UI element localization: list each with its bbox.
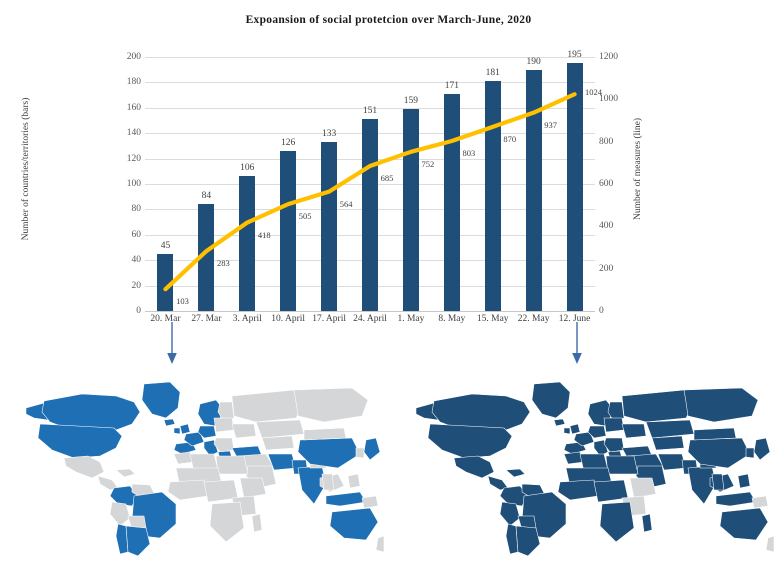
bar[interactable] — [198, 204, 214, 311]
map-region-nz — [766, 536, 774, 552]
chart-page: Expoansion of social protetcion over Mar… — [0, 0, 777, 570]
map-region-kazakh — [646, 420, 694, 438]
world-map-march — [4, 356, 384, 561]
bar-slot: 151 — [350, 57, 391, 311]
map-region-greenland — [532, 382, 570, 418]
y-tick-label-left: 200 — [105, 52, 141, 62]
map-region-usa — [38, 424, 122, 458]
map-region-centralasia — [262, 436, 294, 450]
bar[interactable] — [239, 176, 255, 311]
line-value-label: 870 — [503, 134, 516, 144]
y-tick-label-left: 40 — [105, 255, 141, 265]
map-region-kazakh — [256, 420, 304, 438]
map-region-indonesia — [326, 492, 366, 506]
map-region-argentina — [126, 526, 150, 556]
map-region-mexico — [454, 456, 494, 478]
y-tick-label-left: 160 — [105, 103, 141, 113]
map-region-russia_e — [294, 388, 368, 422]
bar[interactable] — [485, 81, 501, 311]
map-region-argentina — [516, 526, 540, 556]
map-region-mexico — [64, 456, 104, 478]
map-region-peru — [500, 502, 520, 526]
map-region-japan — [754, 438, 770, 460]
bar[interactable] — [362, 119, 378, 311]
bar-value-label: 84 — [202, 191, 212, 201]
map-region-mongolia — [304, 428, 346, 440]
gridline — [145, 311, 595, 312]
map-region-westafrica — [558, 480, 598, 500]
bar-value-label: 190 — [527, 57, 541, 67]
map-region-australia — [720, 508, 768, 540]
y-tick-label-left: 60 — [105, 230, 141, 240]
y-tick-label-left: 20 — [105, 281, 141, 291]
map-region-ireland — [174, 428, 180, 434]
y-tick-label-right: 1200 — [599, 52, 639, 62]
bar-slot: 84 — [186, 57, 227, 311]
bar-slot: 106 — [227, 57, 268, 311]
plot-area: 4584106126133151159171181190195 10328341… — [145, 57, 595, 311]
map-region-madagascar — [252, 514, 262, 532]
bar-value-label: 45 — [161, 241, 171, 251]
bar-value-label: 181 — [486, 68, 500, 78]
map-region-peru — [110, 502, 130, 526]
bar[interactable] — [567, 63, 583, 311]
map-region-usa — [428, 424, 512, 458]
bar[interactable] — [321, 142, 337, 311]
map-region-japan — [364, 438, 380, 460]
map-region-thailand — [712, 474, 724, 490]
bar-value-label: 171 — [445, 81, 459, 91]
line-value-label: 103 — [176, 296, 189, 306]
map-region-russia_w — [232, 390, 304, 422]
y-tick-label-right: 0 — [599, 306, 639, 316]
map-region-australia — [330, 508, 378, 540]
map-region-russia_w — [622, 390, 694, 422]
y-axis-left-title: Number of countries/territories (bars) — [21, 79, 31, 259]
line-value-label: 752 — [422, 159, 435, 169]
map-region-ukraine — [232, 424, 256, 438]
bar-slot: 190 — [513, 57, 554, 311]
map-region-thailand — [322, 474, 334, 490]
line-value-label: 803 — [462, 148, 475, 158]
map-region-hornafrica — [240, 478, 266, 498]
map-region-mongolia — [694, 428, 736, 440]
bar[interactable] — [157, 254, 173, 311]
map-region-png — [752, 496, 768, 508]
map-region-polandbalt — [604, 418, 624, 432]
map-region-westafrica — [168, 480, 208, 500]
world-map-june — [394, 356, 774, 561]
line-value-label: 418 — [258, 230, 271, 240]
map-region-uk — [570, 424, 580, 434]
bar[interactable] — [526, 70, 542, 311]
bar-slot: 181 — [472, 57, 513, 311]
map-region-iceland — [164, 419, 175, 426]
map-region-indonesia — [716, 492, 756, 506]
y-tick-label-left: 180 — [105, 77, 141, 87]
map-region-hornafrica — [630, 478, 656, 498]
map-region-russia_e — [684, 388, 758, 422]
bar[interactable] — [280, 151, 296, 311]
map-region-png — [362, 496, 378, 508]
y-tick-label-left: 0 — [105, 306, 141, 316]
map-region-caribbean — [116, 469, 135, 477]
y-axis-left-ticks: 020406080100120140160180200 — [101, 57, 141, 311]
y-axis-right-title: Number of measures (line) — [633, 79, 643, 259]
map-region-libyaegypt — [606, 456, 638, 474]
bar-value-label: 133 — [322, 129, 336, 139]
chart-container: 020406080100120140160180200 020040060080… — [0, 40, 777, 330]
line-value-label: 685 — [381, 173, 394, 183]
line-value-label: 937 — [544, 120, 557, 130]
map-region-korea — [746, 448, 754, 458]
bar-slot: 126 — [268, 57, 309, 311]
x-axis-labels: 20. Mar27. Mar3. April10. April17. April… — [145, 314, 595, 334]
line-value-label: 1024 — [585, 87, 602, 97]
bar-value-label: 151 — [363, 106, 377, 116]
map-region-madagascar — [642, 514, 652, 532]
map-region-nz — [376, 536, 384, 552]
map-region-southafrica — [210, 502, 244, 542]
line-value-label: 564 — [340, 199, 353, 209]
bar-value-label: 106 — [240, 163, 254, 173]
map-region-china — [688, 438, 750, 468]
map-region-philippines — [348, 474, 360, 488]
map-region-korea — [356, 448, 364, 458]
map-region-ukraine — [622, 424, 646, 438]
y-tick-label-left: 140 — [105, 128, 141, 138]
bar-slot: 159 — [390, 57, 431, 311]
map-region-centralasia — [652, 436, 684, 450]
world-map-march-svg — [4, 356, 384, 561]
map-region-southafrica — [600, 502, 634, 542]
bar-value-label: 126 — [281, 138, 295, 148]
line-value-label: 505 — [299, 211, 312, 221]
map-region-uk — [180, 424, 190, 434]
world-map-june-svg — [394, 356, 774, 561]
y-tick-label-left: 80 — [105, 204, 141, 214]
bar[interactable] — [444, 94, 460, 311]
map-region-caribbean — [506, 469, 525, 477]
bar-slot: 171 — [431, 57, 472, 311]
map-region-libyaegypt — [216, 456, 248, 474]
map-region-polandbalt — [214, 418, 234, 432]
y-tick-label-right: 200 — [599, 264, 639, 274]
map-region-philippines — [738, 474, 750, 488]
bar-slot: 45 — [145, 57, 186, 311]
map-region-ireland — [564, 428, 570, 434]
page-title: Expoansion of social protetcion over Mar… — [0, 14, 777, 26]
bar-value-label: 195 — [567, 50, 581, 60]
map-region-china — [298, 438, 360, 468]
bar[interactable] — [403, 109, 419, 311]
map-region-greenland — [142, 382, 180, 418]
bar-slot: 133 — [309, 57, 350, 311]
y-tick-label-left: 120 — [105, 154, 141, 164]
map-region-iceland — [554, 419, 565, 426]
bar-value-label: 159 — [404, 96, 418, 106]
line-value-label: 283 — [217, 258, 230, 268]
y-tick-label-left: 100 — [105, 179, 141, 189]
